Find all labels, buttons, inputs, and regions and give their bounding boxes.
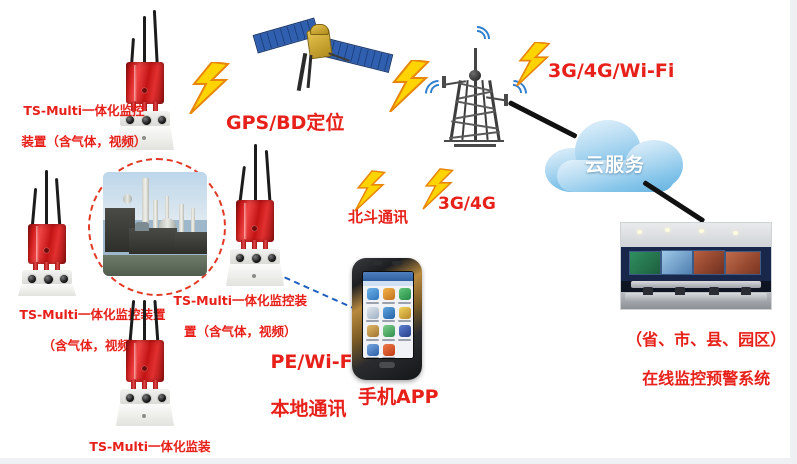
phone-status-bar [363,272,413,281]
phone-app-icon-12 [398,344,411,360]
phone-app-icon-11[interactable] [382,344,395,360]
tower-base [454,144,496,147]
device-indicator [44,248,49,253]
mobile-app-label: 手机APP [358,386,439,409]
bolt-satellite-to-tower [386,60,430,112]
room-video-wall-2 [661,250,693,275]
satellite-boom [297,53,308,91]
link-local-label: PE/Wi-Fi 本地通讯 [244,328,359,444]
link-local-label-line2: 本地通讯 [270,398,346,420]
phone-home-button[interactable] [379,362,395,368]
tower-signal-top-2 [459,21,496,58]
device-mid-right-label-line1: TS-Multi一体化监控装 [173,293,307,308]
link-3g4g-wifi-label: 3G/4G/Wi-Fi [548,60,674,83]
phone-title-bar [363,281,413,286]
room-video-wall-3 [693,250,725,275]
device-camera-right [267,253,277,263]
device-camera-right [157,115,167,125]
room-light-4 [733,231,738,235]
device-camera-center [141,393,152,404]
photo-ground [103,255,207,276]
device-camera-left [235,253,245,263]
phone-top-button-left[interactable] [372,261,382,265]
refinery-photo [103,172,207,276]
link-gps-label: GPS/BD定位 [226,112,344,135]
room-chair-2 [675,287,685,295]
device-indicator [142,366,147,371]
phone-app-icon-3[interactable] [398,288,411,304]
device-bottom-label-line1: TS-Multi一体化监装 [89,439,210,454]
device-mid-left[interactable] [12,166,88,296]
room-ceiling [621,223,771,249]
control-center-label: （省、市、县、园区） 在线监控预警系统 [600,310,790,408]
device-top-left-label-line2: 装置（含气体，视频） [21,134,146,149]
cloud-service-label: 云服务 [545,150,685,177]
room-chair-3 [709,287,719,295]
link-3g4g-label: 3G/4G [438,194,496,215]
device-body [126,340,164,382]
room-video-wall-4 [725,251,761,275]
device-camera-center [251,253,262,264]
device-camera-left [125,393,135,403]
tower-platform [444,140,504,142]
room-chair-1 [643,287,653,295]
device-mid-right[interactable] [222,140,298,280]
phone-app-icon-9[interactable] [398,325,411,341]
device-base-port [142,414,146,418]
control-center-photo [620,222,772,310]
cell-tower [432,22,518,150]
bolt-tower-to-network [512,42,552,86]
room-chair-4 [741,287,751,295]
device-body [236,200,274,242]
device-camera-right [59,274,69,284]
phone-app-icon-1[interactable] [366,288,379,304]
control-center-label-line2: 在线监控预警系统 [642,369,770,388]
satellite-boom-secondary [307,55,313,88]
photo-tank-2 [123,194,132,204]
link-beidou-label: 北斗通讯 [348,208,408,226]
device-bottom-label: TS-Multi一体化监装 置（含气体，视频） [72,424,211,458]
room-video-wall-1 [629,251,661,275]
device-camera-right [157,393,167,403]
phone-app-icon-6[interactable] [398,307,411,323]
phone-app-icon-10[interactable] [366,344,379,360]
bolt-device-to-satellite [186,62,230,114]
device-camera-left [27,274,37,284]
photo-unit-box [135,222,149,231]
device-top-left-label-line1: TS-Multi一体化监控 [23,103,144,118]
device-camera-center [43,274,54,285]
phone-screen[interactable] [362,271,414,359]
phone-app-icon-7[interactable] [366,325,379,341]
diagram-canvas: 云服务 TS-Multi一体化监控 装置（含气体，视频） [0,0,790,458]
mobile-app-device[interactable] [352,258,422,380]
phone-app-icon-8[interactable] [382,325,395,341]
satellite [252,8,392,100]
link-local-label-line1: PE/Wi-Fi [270,351,359,373]
phone-app-grid[interactable] [366,288,410,359]
phone-app-icon-2[interactable] [382,288,395,304]
device-body [28,224,66,264]
control-center-label-line1: （省、市、县、园区） [626,330,786,349]
device-bottom[interactable] [110,300,186,424]
room-light-2 [665,228,670,232]
photo-building-mid [129,228,177,254]
phone-app-icon-5[interactable] [382,307,395,323]
room-light-3 [699,229,704,233]
device-top-left-label: TS-Multi一体化监控 装置（含气体，视频） [4,88,146,164]
device-indicator [252,226,257,231]
tower-leg-inner-left [461,80,468,140]
phone-top-button-right[interactable] [392,261,402,265]
satellite-dish [310,24,329,35]
room-light-1 [637,230,642,234]
phone-app-icon-4[interactable] [366,307,379,323]
photo-building-right [175,232,207,254]
